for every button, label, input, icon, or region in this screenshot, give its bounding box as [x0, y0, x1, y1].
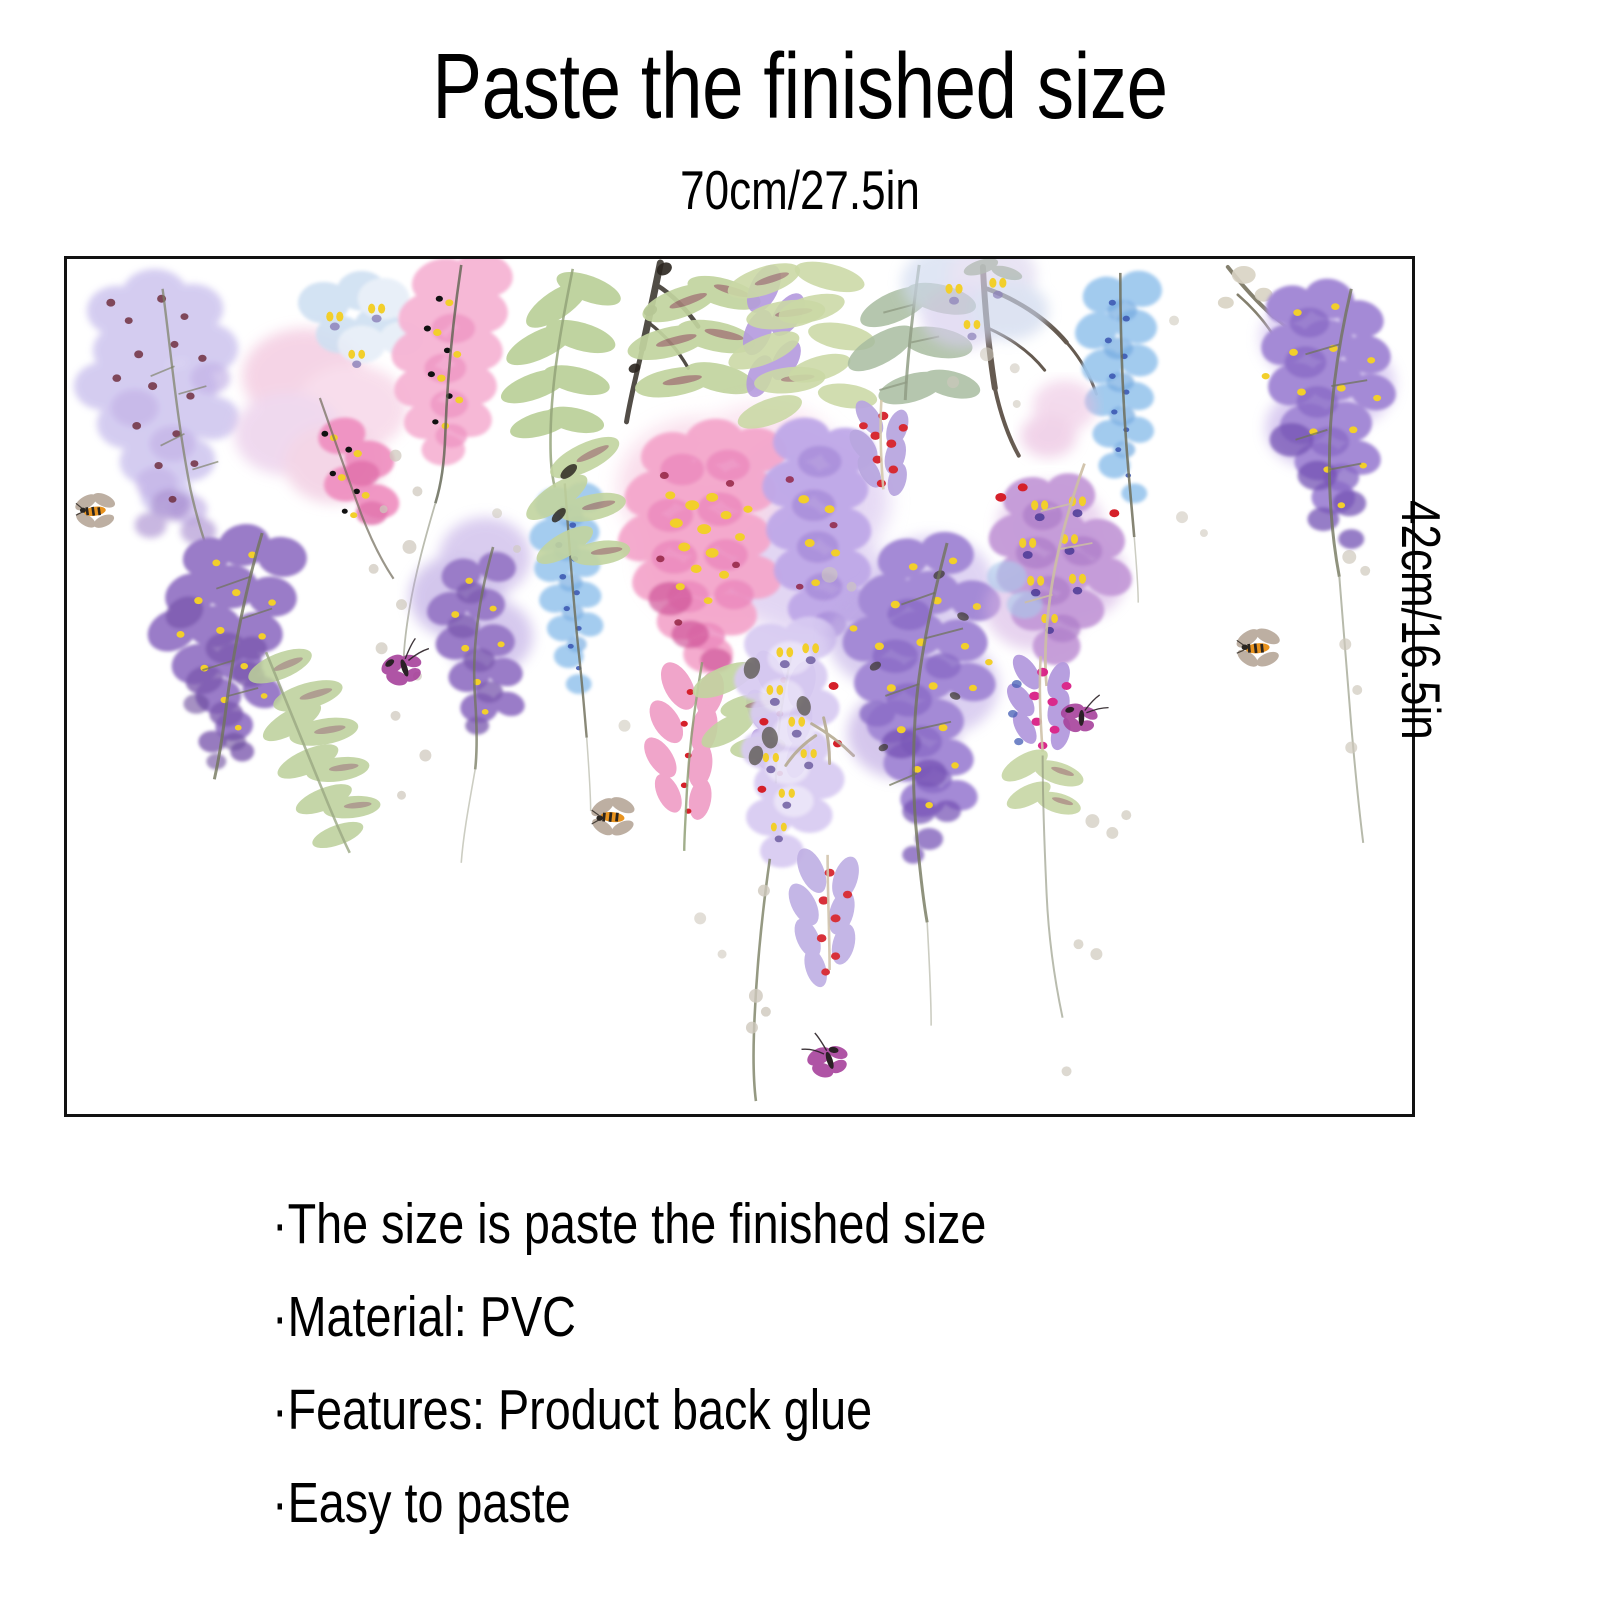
list-item: ·Easy to paste	[272, 1475, 1256, 1532]
product-info-page: Paste the finished size 70cm/27.5in	[0, 0, 1600, 1600]
page-title: Paste the finished size	[160, 36, 1440, 136]
width-dimension-label: 70cm/27.5in	[160, 160, 1440, 221]
list-item: ·Material: PVC	[272, 1289, 1256, 1346]
list-item: ·Features: Product back glue	[272, 1382, 1256, 1439]
height-dimension-label: 42cm/16.5in	[1393, 500, 1448, 740]
list-item: ·The size is paste the finished size	[272, 1196, 1256, 1253]
product-feature-list: ·The size is paste the finished size ·Ma…	[272, 1196, 1472, 1532]
artwork-frame	[64, 256, 1415, 1117]
wisteria-watercolor-illustration	[67, 259, 1412, 1114]
